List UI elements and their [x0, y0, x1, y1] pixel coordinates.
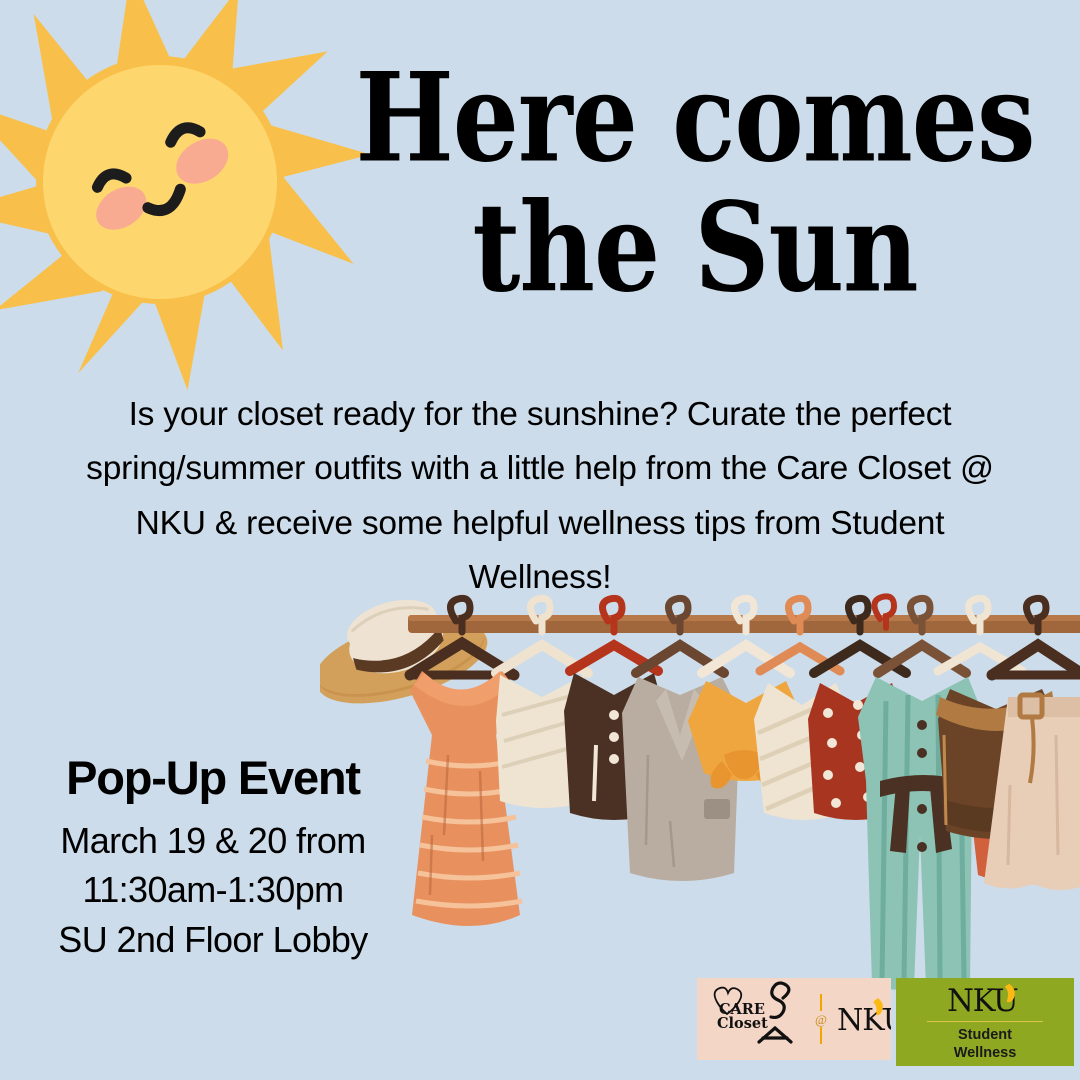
poster-canvas: Here comes the Sun Is your closet ready …: [0, 0, 1080, 1080]
description-paragraph: Is your closet ready for the sunshine? C…: [62, 388, 1018, 605]
care-closet-logo-mark: CARE Closet @ NKU: [697, 978, 891, 1060]
at-symbol: @: [815, 1012, 827, 1027]
event-date: March 19 & 20 from: [18, 816, 408, 866]
care-closet-logo: CARE Closet @ NKU: [697, 978, 891, 1060]
event-location: SU 2nd Floor Lobby: [18, 915, 408, 965]
title-line-2: the Sun: [320, 188, 1070, 308]
nku-wordmark: NKU: [837, 1003, 891, 1038]
student-wellness-logo: NKU Student Wellness: [896, 978, 1074, 1066]
student-wellness-label: Student Wellness: [954, 1027, 1017, 1062]
title-line-1: Here comes: [320, 58, 1070, 178]
event-time: 11:30am-1:30pm: [18, 865, 408, 915]
event-heading: Pop-Up Event: [18, 752, 408, 804]
sun-face: [43, 65, 277, 299]
nku-wellness-wordmark: NKU: [926, 982, 1044, 1018]
hangers: [410, 596, 1080, 675]
clothing-rack-illustration: [320, 585, 1080, 1025]
care-closet-line2: Closet: [717, 1015, 768, 1032]
poster-title: Here comes the Sun: [320, 58, 1070, 290]
wellness-divider: [927, 1021, 1043, 1023]
logo-strip: CARE Closet @ NKU NKU: [697, 978, 1074, 1066]
event-details-block: Pop-Up Event March 19 & 20 from 11:30am-…: [18, 752, 408, 965]
